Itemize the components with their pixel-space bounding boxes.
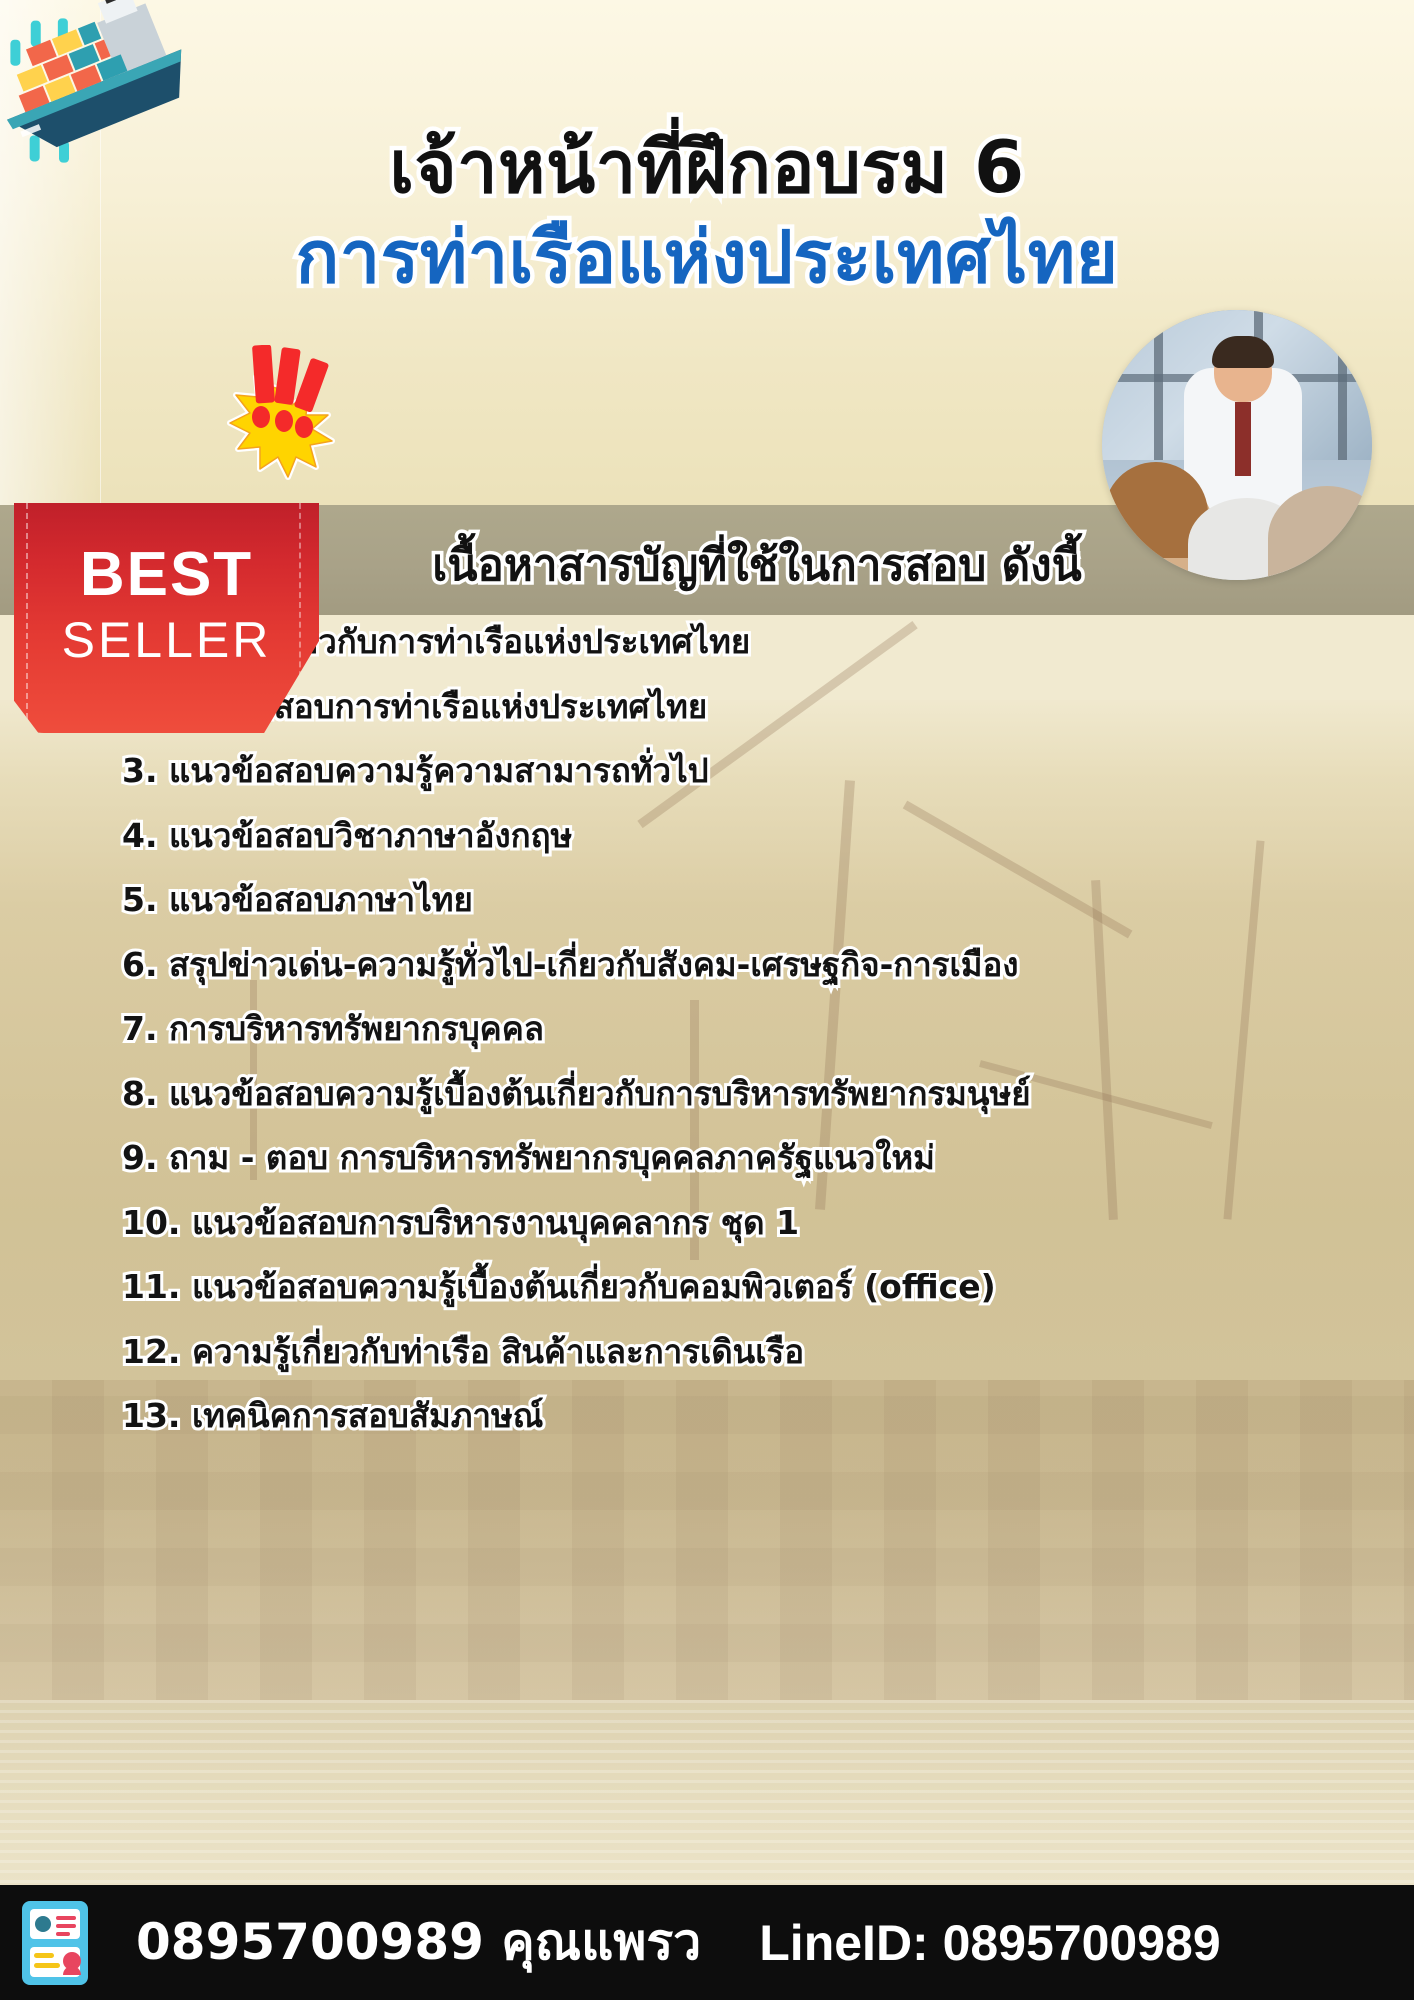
list-item: 7. การบริหารทรัพยากรบุคคล: [122, 1012, 1374, 1045]
title-block: เจ้าหน้าที่ฝึกอบรม 6 การท่าเรือแห่งประเท…: [0, 130, 1414, 295]
list-item: 2. แนวข้อสอบการท่าเรือแห่งประเทศไทย: [122, 690, 1374, 723]
list-item: 8. แนวข้อสอบความรู้เบื้องต้นเกี่ยวกับการ…: [122, 1077, 1374, 1110]
poster-title-line1: เจ้าหน้าที่ฝึกอบรม 6: [0, 130, 1414, 206]
footer-line-id: LineID: 0895700989: [759, 1914, 1220, 1972]
list-item: 9. ถาม - ตอบ การบริหารทรัพยากรบุคคลภาครั…: [122, 1141, 1374, 1174]
poster-canvas: เจ้าหน้าที่ฝึกอบรม 6 การท่าเรือแห่งประเท…: [0, 0, 1414, 2000]
photo-window-mullion: [1154, 310, 1163, 460]
footer-phone-number: 0895700989 คุณแพรว: [136, 1903, 701, 1982]
list-item: 11. แนวข้อสอบความรู้เบื้องต้นเกี่ยวกับคอ…: [122, 1270, 1374, 1303]
footer-contact-bar: 0895700989 คุณแพรว LineID: 0895700989: [0, 1885, 1414, 2000]
poster-title-line2: การท่าเรือแห่งประเทศไทย: [0, 220, 1414, 296]
contact-card-icon: [10, 1893, 122, 1993]
list-item: 4. แนวข้อสอบวิชาภาษาอังกฤษ: [122, 819, 1374, 852]
exclamation-burst-icon: [216, 345, 346, 480]
photo-speaker-hair: [1212, 336, 1274, 368]
list-item: 5. แนวข้อสอบภาษาไทย: [122, 883, 1374, 916]
list-item: 10. แนวข้อสอบการบริหารงานบุคคลากร ชุด 1: [122, 1206, 1374, 1239]
list-item: 12. ความรู้เกี่ยวกับท่าเรือ สินค้าและการ…: [122, 1335, 1374, 1368]
subtitle-banner-text: เนื้อหาสารบัญที่ใช้ในการสอบ ดังนี้: [432, 530, 1081, 600]
photo-speaker-tie: [1235, 402, 1251, 476]
list-item: 3. แนวข้อสอบความรู้ความสามารถทั่วไป: [122, 754, 1374, 787]
badge-best-label: BEST: [14, 539, 319, 610]
list-item: 13. เทคนิคการสอบสัมภาษณ์: [122, 1399, 1374, 1432]
contents-list: 1. ความรู้เกี่ยวกับการท่าเรือแห่งประเทศไ…: [0, 625, 1414, 1464]
badge-seller-label: SELLER: [14, 611, 319, 669]
photo-window-mullion: [1338, 310, 1347, 460]
best-seller-badge: BEST SELLER: [14, 503, 319, 733]
lecturer-classroom-photo: [1102, 310, 1372, 580]
list-item: 6. สรุปข่าวเด่น-ความรู้ทั่วไป-เกี่ยวกับส…: [122, 948, 1374, 981]
